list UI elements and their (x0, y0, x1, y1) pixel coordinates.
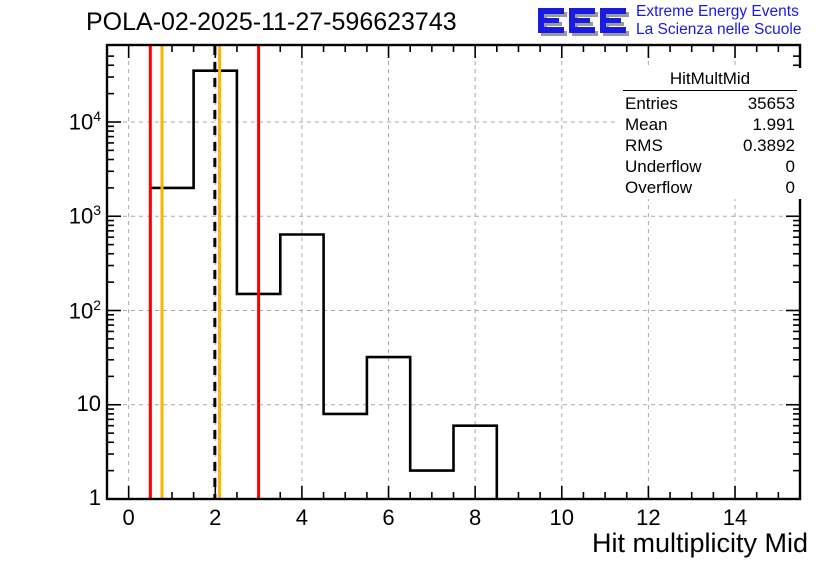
y-tick-label: 1 (41, 485, 101, 511)
stats-rows: Entries35653Mean1.991RMS0.3892Underflow0… (619, 93, 801, 198)
eee-logo-mark (536, 4, 632, 40)
stats-row-value: 0 (786, 177, 795, 198)
stats-row-value: 1.991 (752, 114, 795, 135)
stats-row-value: 0.3892 (743, 135, 795, 156)
stats-row: Overflow0 (619, 177, 801, 198)
histogram-outline (150, 71, 497, 499)
x-tick-label: 2 (209, 505, 221, 531)
x-tick-label: 8 (469, 505, 481, 531)
stats-title: HitMultMid (623, 69, 797, 91)
stats-row: Entries35653 (619, 93, 801, 114)
page-title: POLA-02-2025-11-27-596623743 (86, 8, 457, 37)
stats-row-key: Underflow (625, 156, 702, 177)
y-tick-label: 102 (41, 297, 101, 324)
x-tick-label: 14 (723, 505, 747, 531)
eee-logo-text: Extreme Energy Events La Scienza nelle S… (636, 3, 801, 39)
eee-logo-line1: Extreme Energy Events (636, 3, 801, 21)
stats-row-key: RMS (625, 135, 663, 156)
y-tick-label: 10 (41, 391, 101, 417)
x-tick-label: 6 (382, 505, 394, 531)
stats-row: RMS0.3892 (619, 135, 801, 156)
stats-row: Mean1.991 (619, 114, 801, 135)
stats-row-key: Overflow (625, 177, 692, 198)
y-tick-label: 103 (41, 202, 101, 229)
x-axis-title: Hit multiplicity Mid (592, 528, 808, 559)
x-tick-label: 10 (550, 505, 574, 531)
stats-row-value: 0 (786, 156, 795, 177)
x-tick-label: 4 (296, 505, 308, 531)
eee-logo-line2: La Scienza nelle Scuole (636, 21, 801, 39)
stats-row-value: 35653 (748, 93, 795, 114)
y-tick-label: 104 (41, 108, 101, 135)
stats-box: HitMultMid Entries35653Mean1.991RMS0.389… (618, 68, 802, 199)
x-tick-label: 12 (636, 505, 660, 531)
x-tick-label: 0 (123, 505, 135, 531)
stats-row-key: Entries (625, 93, 678, 114)
stats-row: Underflow0 (619, 156, 801, 177)
stats-row-key: Mean (625, 114, 668, 135)
eee-logo: Extreme Energy Events La Scienza nelle S… (536, 2, 834, 42)
